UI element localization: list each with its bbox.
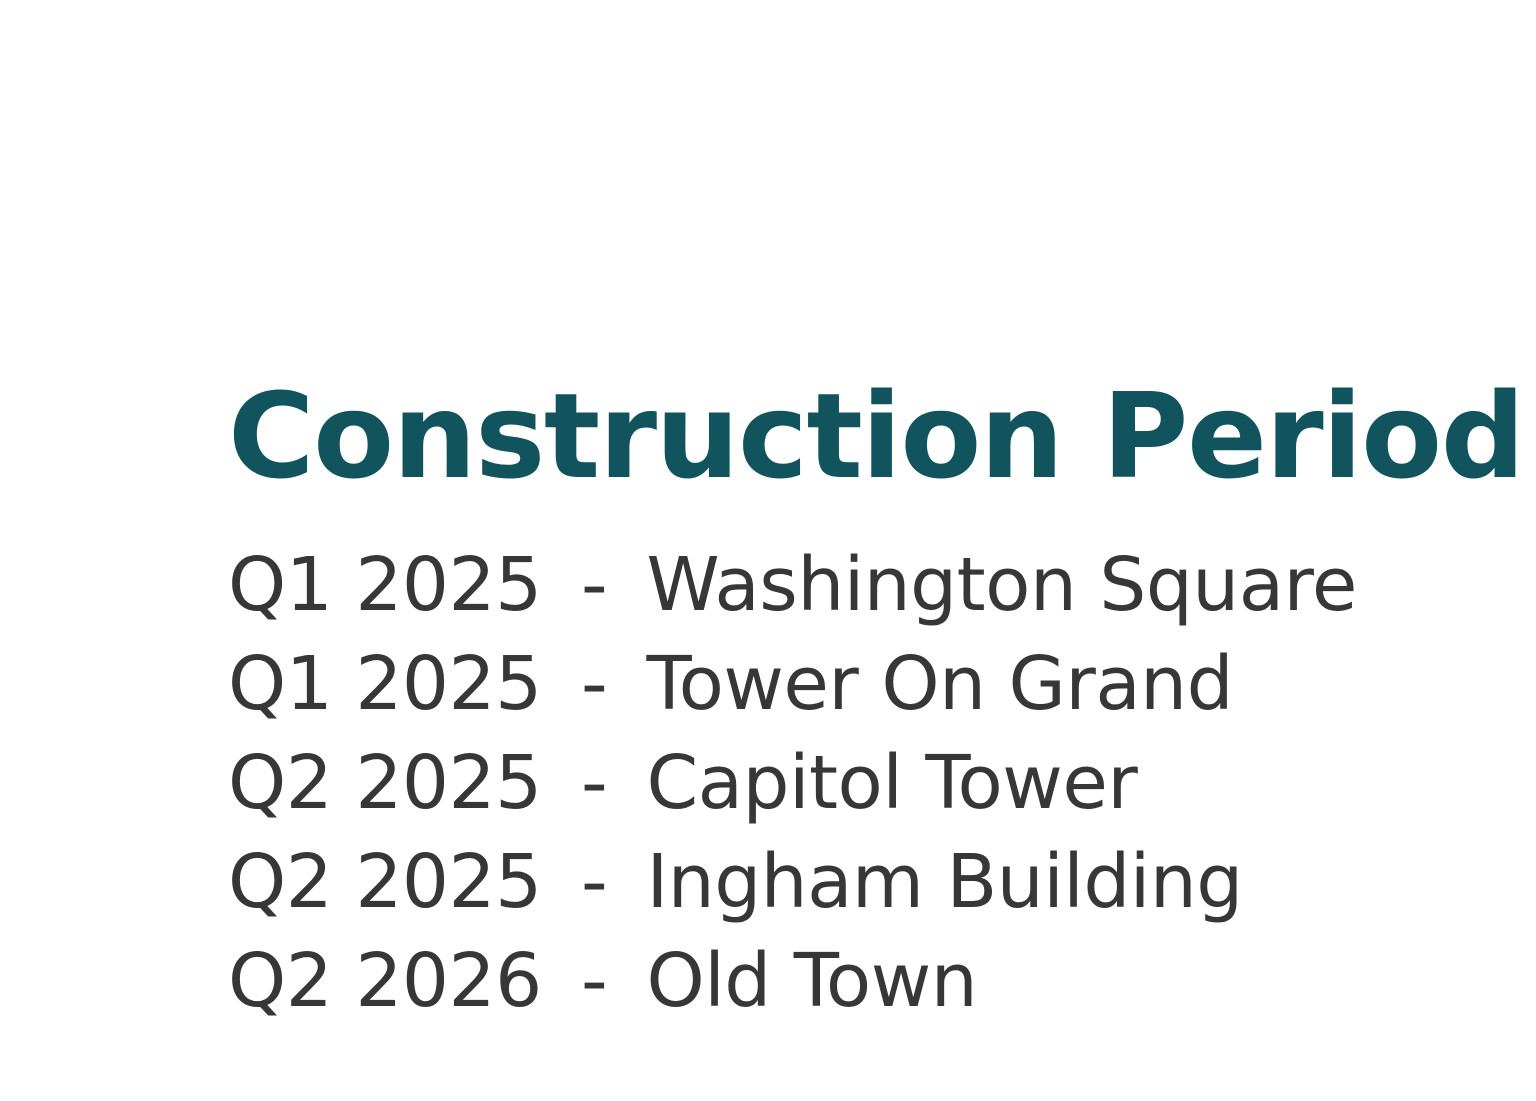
list-item: Q1 2025 - Washington Square [228,536,1408,635]
list-item-period: Q2 2026 [228,938,542,1024]
list-item: Q2 2025 - Capitol Tower [228,734,1408,833]
page-title: Construction Period: [228,372,1408,502]
list-item-separator: - [581,839,607,925]
list-item: Q2 2026 - Old Town [228,932,1408,1031]
list-item-project: Capitol Tower [646,740,1137,826]
list-item-project: Old Town [646,938,977,1024]
content-block: Construction Period: Q1 2025 - Washingto… [228,372,1408,1031]
list-item-separator: - [581,542,607,628]
list-item-separator: - [581,641,607,727]
list-item-project: Tower On Grand [646,641,1233,727]
list-item: Q2 2025 - Ingham Building [228,833,1408,932]
list-item-period: Q1 2025 [228,542,542,628]
list-item-separator: - [581,938,607,1024]
list-item-separator: - [581,740,607,826]
slide-canvas: Construction Period: Q1 2025 - Washingto… [0,0,1536,1101]
list-item-period: Q2 2025 [228,839,542,925]
construction-schedule-list: Q1 2025 - Washington Square Q1 2025 - To… [228,536,1408,1031]
list-item-project: Washington Square [646,542,1356,628]
list-item-period: Q2 2025 [228,740,542,826]
list-item-period: Q1 2025 [228,641,542,727]
list-item: Q1 2025 - Tower On Grand [228,635,1408,734]
list-item-project: Ingham Building [646,839,1242,925]
